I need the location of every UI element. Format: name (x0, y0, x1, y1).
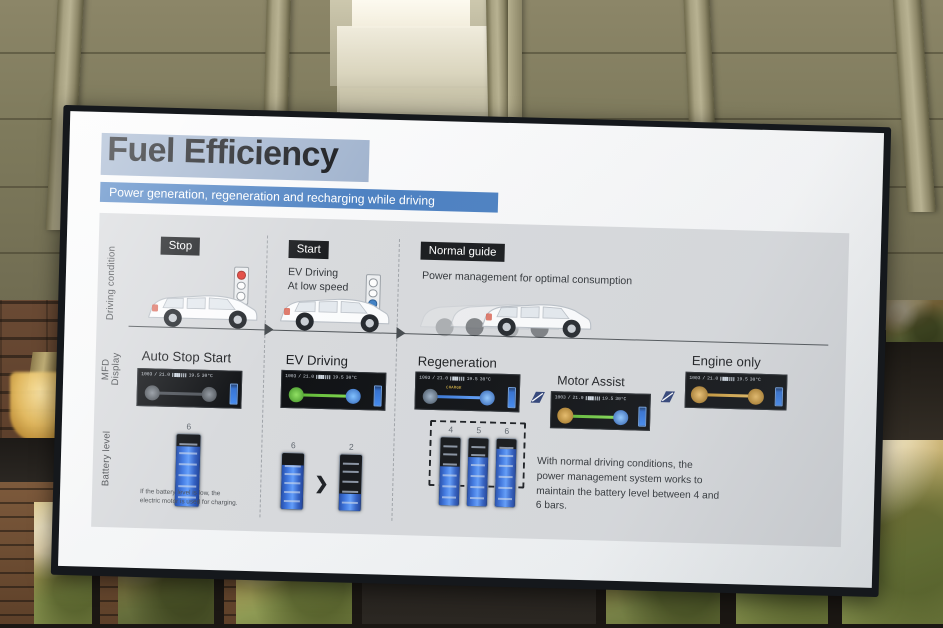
mfd-powertrain-graphic (281, 382, 385, 410)
stage-chip-start: Start (288, 240, 329, 259)
mfd-fuel: 21.0 (159, 372, 170, 377)
battery-gauge-ev-before: 6 (280, 452, 306, 511)
mfd-fuel-bars (172, 373, 187, 377)
timeline-arrow (264, 323, 273, 335)
mfd-odometer: 1003 (689, 376, 700, 381)
mfd-fuel-bars (450, 377, 465, 381)
mfd-powertrain-graphic (686, 383, 787, 410)
mfd-fuel: 21.0 (572, 396, 583, 401)
mfd-title-engine-only: Engine only (692, 353, 761, 370)
ceiling-beam (508, 0, 522, 120)
car-illustration-normal-guide (476, 295, 595, 340)
ceiling-beam (486, 0, 510, 120)
battery-cap (345, 453, 357, 454)
mfd-range: 19.5 (333, 375, 344, 380)
mfd-range: 19.5 (467, 377, 478, 382)
mfd-display-auto-stop-start: 1003 / 21.0 19.5 30°C (136, 368, 242, 409)
mfd-display-regeneration: 1003 / 21.0 19.5 30°C CHARGE (414, 372, 520, 413)
column-divider (259, 235, 268, 517)
battery-gauge-value: 6 (176, 421, 202, 432)
mfd-range: 19.5 (737, 377, 748, 382)
page-title: Fuel Efficiency (107, 130, 339, 175)
car-illustration-stop (142, 286, 261, 331)
stage-chip-normal-guide: Normal guide (420, 242, 504, 262)
mfd-fuel: 21.0 (437, 376, 448, 381)
timeline-arrow (396, 327, 405, 339)
battery-gauge-value: 4 (440, 424, 462, 435)
mfd-title-regeneration: Regeneration (418, 354, 498, 371)
tv-screen: Fuel Efficiency Power generation, regene… (58, 111, 884, 588)
mfd-battery-gauge (638, 406, 647, 427)
battery-bar (494, 438, 518, 509)
stage-chip-stop: Stop (160, 237, 200, 256)
battery-gauge-level-5: 5 (466, 437, 490, 508)
mfd-powertrain-graphic (137, 380, 241, 408)
mfd-range: 19.5 (602, 396, 613, 401)
battery-bar (438, 436, 462, 507)
battery-gauge-ev-after: 2 (338, 453, 364, 512)
mfd-temperature: 30°C (346, 376, 357, 381)
row-label-driving-condition: Driving condition (104, 233, 118, 333)
battery-gauge-level-6: 6 (494, 438, 518, 509)
mfd-battery-gauge (373, 386, 382, 407)
skylight-glass (352, 0, 470, 28)
battery-cap (501, 438, 511, 439)
presentation-slide: Fuel Efficiency Power generation, regene… (58, 111, 884, 588)
battery-gauge-value: 6 (281, 440, 305, 451)
mfd-temperature: 30°C (615, 397, 626, 402)
battery-cap (473, 437, 483, 438)
television: Fuel Efficiency Power generation, regene… (51, 105, 891, 597)
battery-transition-arrow: ❯ (314, 475, 329, 492)
note-normal-driving: With normal driving conditions, the powe… (536, 455, 766, 520)
battery-gauge-level-4: 4 (438, 436, 462, 507)
mfd-powertrain-graphic (551, 403, 650, 430)
mfd-fuel-bars (586, 396, 601, 400)
row-label-battery-level: Battery level (100, 417, 113, 499)
mfd-title-motor-assist: Motor Assist (557, 373, 625, 389)
car-illustration-start (274, 290, 393, 335)
mfd-charge-label: CHARGE (446, 386, 462, 390)
mfd-temperature: 30°C (480, 377, 491, 382)
mfd-title-ev-driving: EV Driving (285, 352, 348, 369)
mfd-odometer: 1003 (285, 374, 296, 379)
battery-bar (466, 437, 490, 508)
flow-arrow-icon (657, 388, 678, 409)
note-low-battery: If the battery level is low, the electri… (140, 488, 238, 508)
flow-arrow-icon (526, 389, 547, 410)
mfd-fuel: 21.0 (707, 376, 718, 381)
diagram-panel: Driving condition MFD Display Battery le… (91, 213, 849, 547)
mfd-display-ev-driving: 1003 / 21.0 19.5 30°C (280, 370, 386, 411)
mfd-fuel: 21.0 (303, 374, 314, 379)
slide-subtitle: Power generation, regeneration and recha… (100, 185, 435, 208)
battery-cap (182, 433, 195, 435)
mfd-display-motor-assist: 1003 / 21.0 19.5 30°C (550, 391, 651, 431)
battery-gauge-value: 5 (468, 425, 490, 436)
mfd-temperature: 30°C (750, 377, 761, 382)
battery-bar (338, 453, 364, 512)
mfd-range: 19.5 (189, 373, 200, 378)
mfd-fuel-bars (316, 375, 331, 379)
battery-gauge-value: 6 (496, 426, 518, 437)
mfd-odometer: 1003 (555, 395, 566, 400)
mfd-odometer: 1003 (419, 376, 430, 381)
battery-cap (287, 452, 299, 453)
mfd-powertrain-graphic: CHARGE (415, 383, 519, 411)
battery-bar (280, 452, 306, 511)
mfd-battery-gauge (507, 387, 516, 408)
traffic-light-red-lamp (237, 271, 246, 280)
mfd-title-auto-stop-start: Auto Stop Start (142, 348, 232, 365)
mfd-temperature: 30°C (202, 374, 213, 379)
stage-caption-normal-guide: Power management for optimal consumption (422, 270, 633, 289)
battery-gauge-value: 2 (339, 441, 363, 452)
window-pane (886, 300, 943, 342)
battery-cap (445, 436, 455, 437)
column-divider (391, 239, 400, 521)
mfd-battery-gauge (229, 384, 238, 405)
row-label-mfd-line2: Display (110, 353, 122, 386)
mfd-battery-gauge (775, 387, 784, 407)
row-label-mfd-display: MFD Display (101, 343, 123, 396)
mfd-odometer: 1003 (141, 372, 152, 377)
mfd-display-engine-only: 1003 / 21.0 19.5 30°C (685, 372, 788, 411)
mfd-fuel-bars (720, 377, 735, 381)
traffic-light-red-lamp (369, 278, 378, 287)
